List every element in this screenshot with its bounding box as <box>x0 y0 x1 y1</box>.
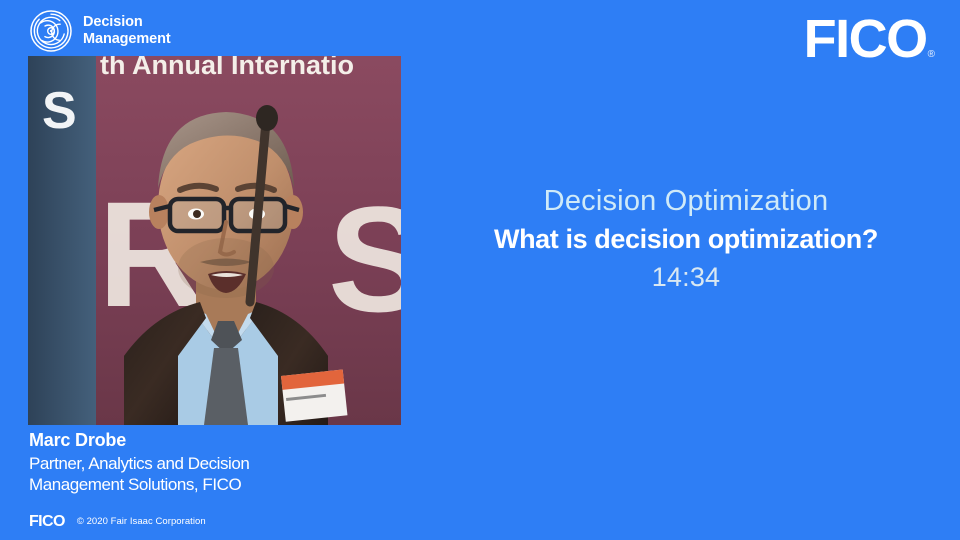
decision-management-spiral-logo-icon <box>29 9 73 53</box>
footer: FICO © 2020 Fair Isaac Corporation <box>29 514 206 530</box>
registered-trademark-icon: ® <box>928 50 935 60</box>
copyright-notice: © 2020 Fair Isaac Corporation <box>77 517 206 527</box>
brand-lockup: Decision Management <box>29 9 171 53</box>
timestamp: 14:34 <box>412 261 960 295</box>
fico-wordmark: FICO <box>804 14 927 65</box>
presentation-slide: Decision Management FICO ® <box>0 0 960 540</box>
fico-logo: FICO ® <box>804 14 935 65</box>
svg-text:S: S <box>42 82 77 140</box>
speaker-photo: S th Annual Internatio R S <box>28 56 401 425</box>
page-title: What is decision optimization? <box>412 222 960 257</box>
svg-text:th Annual Internatio: th Annual Internatio <box>100 56 354 80</box>
speaker-caption: Marc Drobe Partner, Analytics and Decisi… <box>29 430 409 495</box>
title-block: Decision Optimization What is decision o… <box>412 183 960 295</box>
speaker-name: Marc Drobe <box>29 430 409 452</box>
brand-name-label: Decision Management <box>83 14 171 48</box>
svg-text:S: S <box>328 175 401 343</box>
topic-eyebrow: Decision Optimization <box>412 183 960 219</box>
footer-fico-logo: FICO <box>29 514 65 530</box>
speaker-role: Partner, Analytics and Decision Manageme… <box>29 453 409 496</box>
